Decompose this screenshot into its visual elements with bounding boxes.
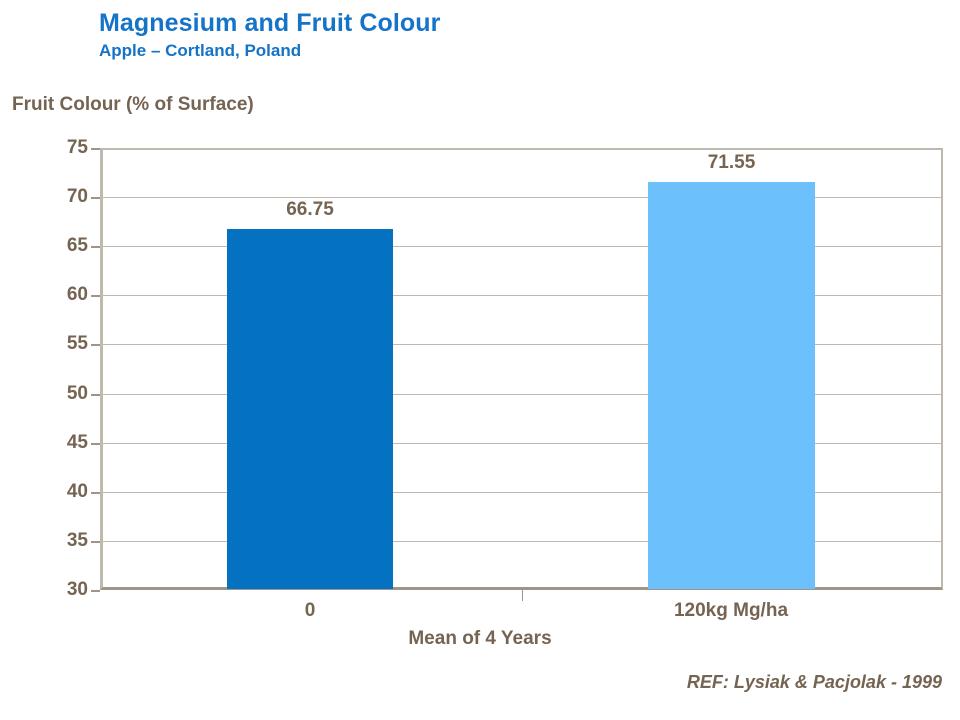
y-tick-label: 60 [44, 284, 88, 306]
bar-value-label: 71.55 [708, 152, 756, 174]
y-tick-label: 65 [44, 235, 88, 257]
reference-note: REF: Lysiak & Pacjolak - 1999 [687, 672, 942, 693]
bar-value-label: 66.75 [286, 199, 334, 221]
x-category-label: 0 [305, 600, 316, 622]
y-tick-mark [91, 492, 100, 494]
y-tick-label: 75 [44, 137, 88, 159]
bar[interactable] [648, 182, 815, 589]
x-tick-mark [522, 590, 523, 601]
y-tick-mark [91, 295, 100, 297]
y-tick-label: 30 [44, 579, 88, 601]
y-tick-label: 55 [44, 333, 88, 355]
y-tick-mark [91, 148, 100, 150]
y-tick-label: 40 [44, 481, 88, 503]
bar[interactable] [227, 229, 393, 589]
bar-chart: 30354045505560657075 66.7571.55 0120kg M… [0, 0, 960, 720]
y-tick-label: 70 [44, 186, 88, 208]
y-tick-mark [91, 590, 100, 592]
y-tick-mark [91, 344, 100, 346]
y-tick-mark [91, 394, 100, 396]
x-axis-title: Mean of 4 Years [0, 628, 960, 650]
y-tick-label: 35 [44, 530, 88, 552]
y-tick-mark [91, 541, 100, 543]
y-tick-label: 45 [44, 432, 88, 454]
y-tick-mark [91, 443, 100, 445]
x-category-label: 120kg Mg/ha [674, 600, 788, 622]
y-tick-mark [91, 197, 100, 199]
gridline [100, 197, 943, 198]
y-tick-label: 50 [44, 383, 88, 405]
y-tick-mark [91, 246, 100, 248]
